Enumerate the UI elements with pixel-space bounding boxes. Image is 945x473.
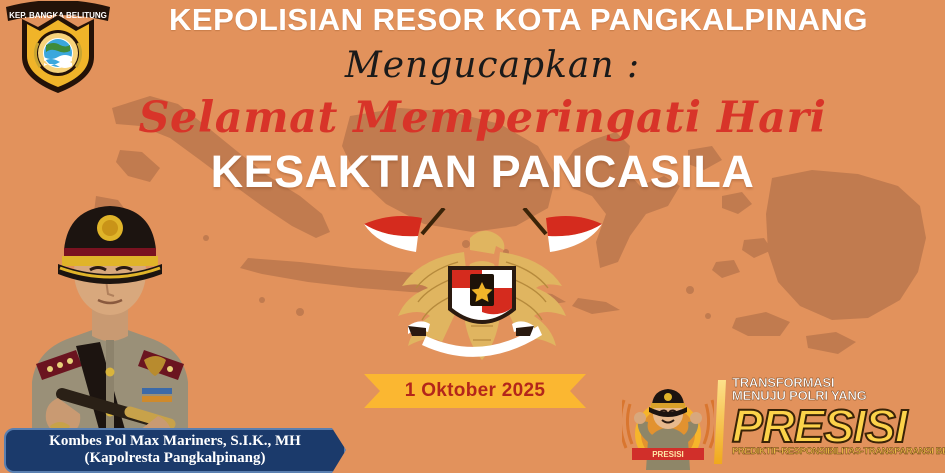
officer-portrait bbox=[2, 150, 218, 440]
presisi-tagline: PREDIKTIF-RESPONSIBILITAS-TRANSPARANSI B… bbox=[732, 446, 945, 457]
flagpole-right bbox=[524, 208, 546, 234]
greeting-selamat: Selamat Memperingati Hari bbox=[20, 94, 945, 143]
presisi-text-block: TRANSFORMASI MENUJU POLRI YANG PRESISI P… bbox=[732, 376, 945, 472]
greeting-mengucapkan: Mengucapkan : bbox=[40, 48, 945, 84]
presisi-mascot-badge-text: PRESISI bbox=[652, 450, 684, 459]
presisi-divider-bar bbox=[714, 380, 726, 464]
indonesian-flag-left bbox=[364, 216, 422, 252]
pancasila-shield bbox=[448, 266, 516, 324]
greeting-banner: KEP. BANGKA BELITUNG KEPOLISIAN RESOR KO… bbox=[0, 0, 945, 473]
flagpole-left bbox=[422, 208, 444, 234]
officer-nameplate: Kombes Pol Max Mariners, S.I.K., MH (Kap… bbox=[4, 428, 346, 473]
presisi-lockup: PRESISI TRANSFORMASI MENUJU POLRI YANG P… bbox=[622, 372, 945, 473]
officer-role: (Kapolresta Pangkalpinang) bbox=[84, 451, 265, 467]
garuda-pancasila-emblem bbox=[352, 208, 612, 380]
presisi-wordmark: PRESISI bbox=[732, 404, 945, 448]
officer-name: Kombes Pol Max Mariners, S.I.K., MH bbox=[49, 434, 301, 450]
page-title: KEPOLISIAN RESOR KOTA PANGKALPINANG bbox=[169, 2, 868, 38]
date-ribbon bbox=[364, 374, 586, 408]
indonesian-flag-right bbox=[546, 216, 602, 252]
header-bar: KEPOLISIAN RESOR KOTA PANGKALPINANG bbox=[0, 0, 945, 40]
presisi-mascot-icon: PRESISI bbox=[622, 374, 714, 473]
